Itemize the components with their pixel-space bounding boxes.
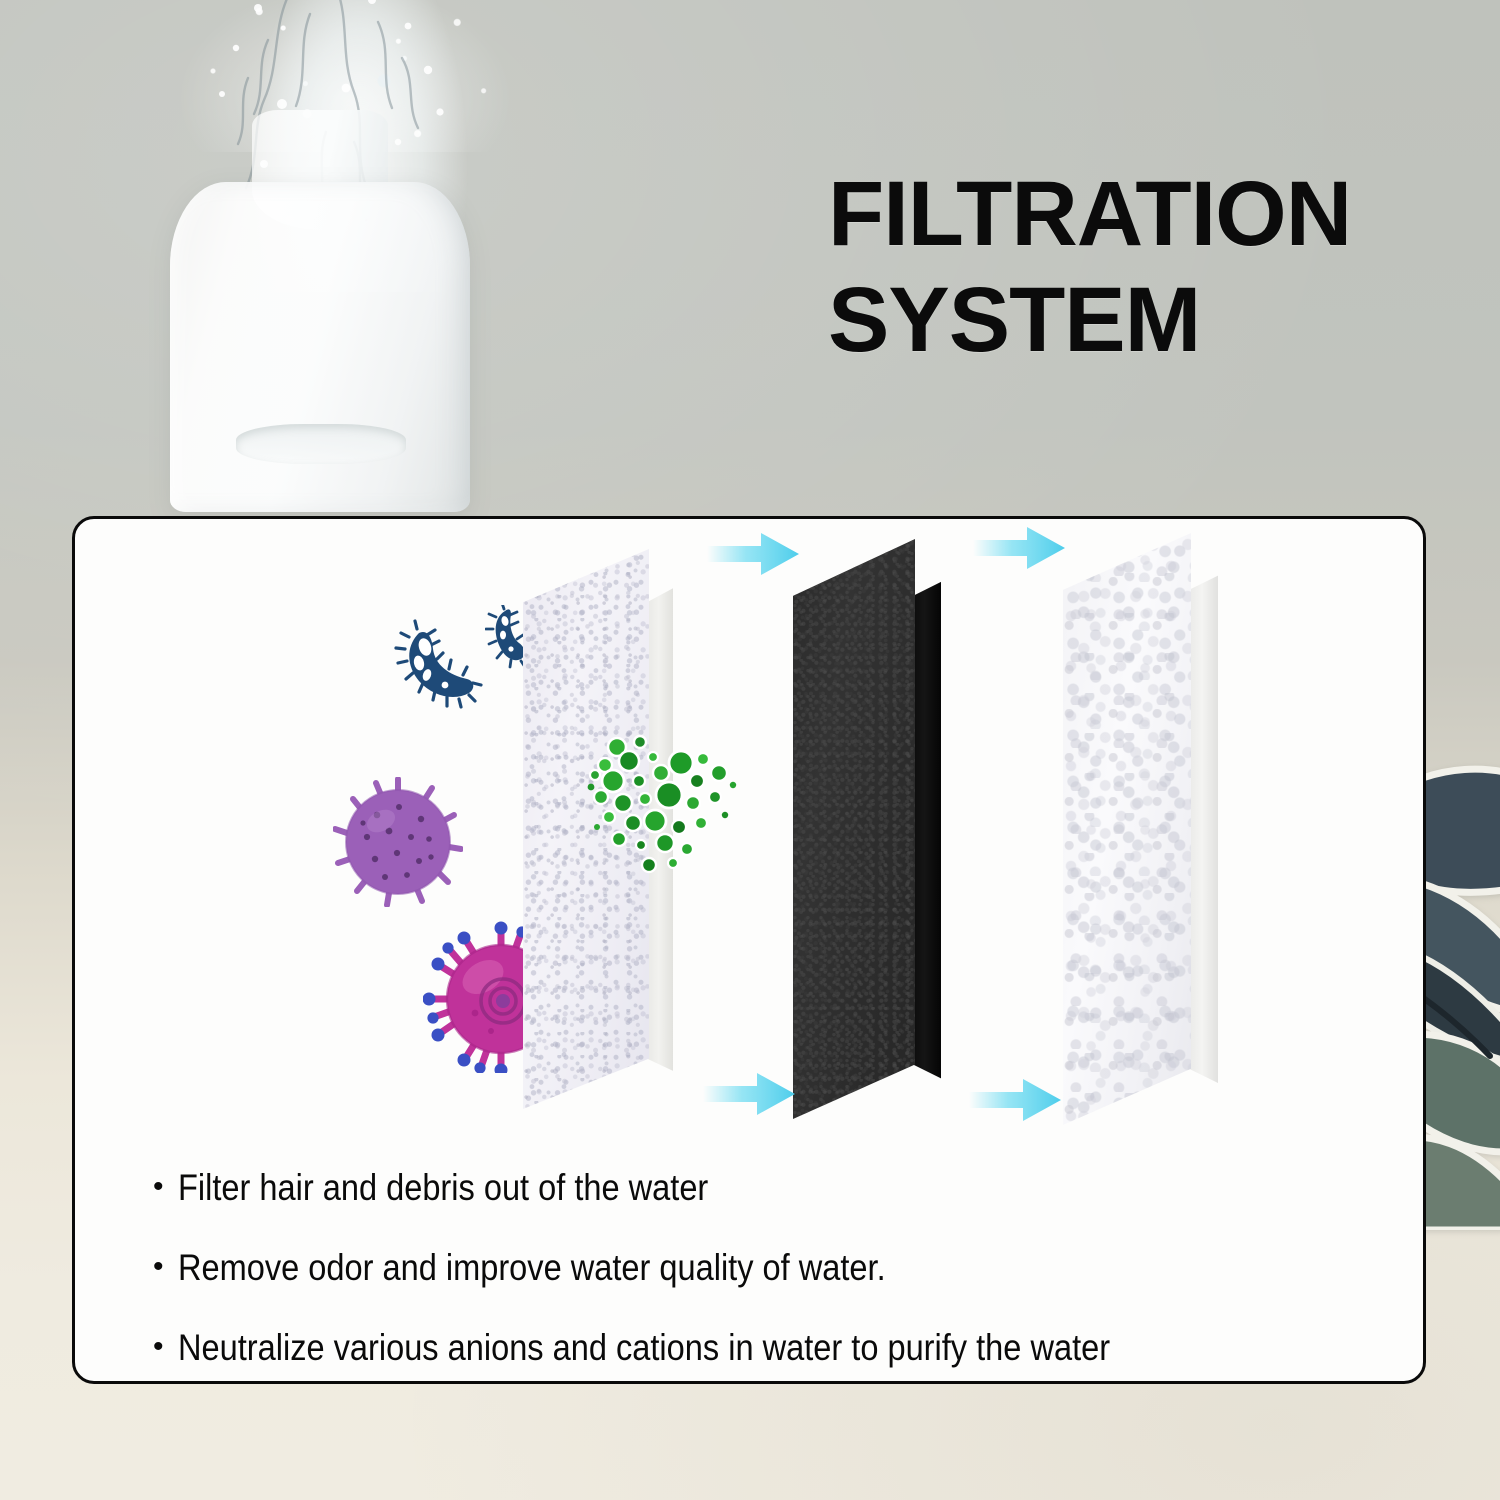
flow-arrow-top-right-icon — [973, 525, 1065, 571]
bottle-base — [236, 424, 406, 464]
flow-arrow-bottom-left-icon — [703, 1071, 795, 1117]
feature-item-2: • Remove odor and improve water quality … — [153, 1247, 1383, 1289]
feature-bullet-list: • Filter hair and debris out of the wate… — [153, 1167, 1383, 1369]
page-title: FILTRATION SYSTEM — [828, 170, 1428, 365]
filter-layer-activated-carbon — [793, 539, 941, 1119]
info-card: • Filter hair and debris out of the wate… — [72, 516, 1426, 1384]
carbon-face — [793, 539, 915, 1119]
bacteria-icon — [393, 617, 489, 713]
feature-item-1: • Filter hair and debris out of the wate… — [153, 1167, 1383, 1209]
filter-diagram — [75, 519, 1426, 1149]
feature-text-3: Neutralize various anions and cations in… — [178, 1327, 1110, 1369]
flow-arrow-top-left-icon — [707, 531, 799, 577]
carbon-edge — [913, 539, 941, 1119]
bullet-dot-icon: • — [153, 1247, 164, 1287]
filter-layer-ion-exchange — [1063, 533, 1218, 1125]
bullet-dot-icon: • — [153, 1327, 164, 1367]
spore-icon — [333, 777, 463, 907]
feature-text-1: Filter hair and debris out of the water — [178, 1167, 708, 1209]
bullet-dot-icon: • — [153, 1167, 164, 1207]
particle-cluster-icon — [583, 729, 743, 879]
title-line-1: FILTRATION — [828, 170, 1428, 258]
hero-bottle-image — [140, 0, 500, 512]
title-line-2: SYSTEM — [828, 276, 1428, 364]
flow-arrow-bottom-right-icon — [969, 1077, 1061, 1123]
ion-face — [1063, 533, 1191, 1125]
feature-item-3: • Neutralize various anions and cations … — [153, 1327, 1383, 1369]
feature-text-2: Remove odor and improve water quality of… — [178, 1247, 886, 1289]
ion-edge — [1189, 533, 1218, 1125]
